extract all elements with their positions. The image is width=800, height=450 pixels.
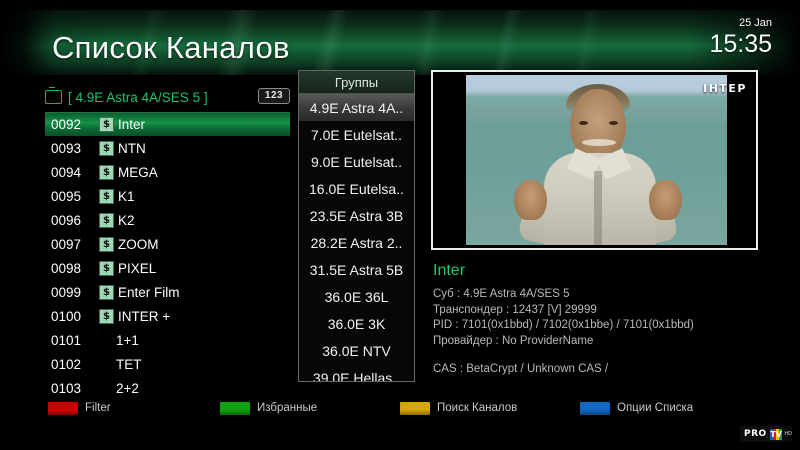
color-button-label: Избранные bbox=[257, 402, 317, 414]
group-item[interactable]: 9.0E Eutelsat.. bbox=[299, 148, 414, 175]
color-button-swatch bbox=[48, 402, 78, 415]
channel-name: 2+2 bbox=[116, 381, 139, 396]
channel-number: 0103 bbox=[51, 381, 95, 396]
watermark-tv-text: TV bbox=[770, 429, 783, 440]
clock-date: 25 Jan bbox=[709, 17, 772, 30]
color-button-swatch bbox=[220, 402, 250, 415]
scrambled-icon: $ bbox=[99, 285, 114, 300]
group-item[interactable]: 7.0E Eutelsat.. bbox=[299, 121, 414, 148]
channel-name: TET bbox=[116, 357, 142, 372]
channel-number: 0102 bbox=[51, 357, 95, 372]
video-preview[interactable]: ІНТЕР bbox=[431, 70, 758, 250]
group-item[interactable]: 36.0E NTV bbox=[299, 337, 414, 364]
channel-list-screen: Список Каналов 25 Jan 15:35 [ 4.9E Astra… bbox=[0, 0, 800, 450]
info-transponder: Транспондер : 12437 [V] 29999 bbox=[433, 303, 763, 319]
person-shirt-placket bbox=[594, 171, 602, 245]
color-button-bar: FilterИзбранныеПоиск КаналовОпции Списка bbox=[0, 399, 800, 421]
watermark-pro-text: PRO bbox=[744, 429, 767, 439]
channel-row[interactable]: 01011+1 bbox=[45, 328, 290, 352]
channel-info-panel: Inter Суб : 4.9E Astra 4A/SES 5 Транспон… bbox=[433, 262, 763, 378]
groups-title: Группы bbox=[335, 75, 378, 90]
group-item[interactable]: 16.0E Eutelsa.. bbox=[299, 175, 414, 202]
color-button-swatch bbox=[400, 402, 430, 415]
clock: 25 Jan 15:35 bbox=[709, 17, 772, 58]
person-moustache bbox=[582, 139, 616, 146]
channel-name: K2 bbox=[118, 213, 135, 228]
group-item[interactable]: 4.9E Astra 4A.. bbox=[299, 94, 414, 121]
channel-row[interactable]: 0095$K1 bbox=[45, 184, 290, 208]
satellite-name: [ 4.9E Astra 4A/SES 5 ] bbox=[68, 90, 208, 105]
scrambled-icon bbox=[99, 382, 112, 395]
channel-number: 0093 bbox=[51, 141, 95, 156]
channel-list-panel: [ 4.9E Astra 4A/SES 5 ] 123 0092$Inter00… bbox=[45, 86, 290, 386]
page-title: Список Каналов bbox=[52, 30, 290, 66]
channel-number: 0096 bbox=[51, 213, 95, 228]
channel-row[interactable]: 0092$Inter bbox=[45, 112, 290, 136]
channel-row[interactable]: 0096$K2 bbox=[45, 208, 290, 232]
scrambled-icon: $ bbox=[99, 213, 114, 228]
info-satellite: Суб : 4.9E Astra 4A/SES 5 bbox=[433, 287, 763, 303]
person-hand-right bbox=[649, 180, 682, 220]
channel-list[interactable]: 0092$Inter0093$NTN0094$MEGA0095$K10096$K… bbox=[45, 112, 290, 400]
person-eye-right bbox=[609, 121, 618, 125]
channel-row[interactable]: 0100$INTER + bbox=[45, 304, 290, 328]
scrambled-icon: $ bbox=[99, 189, 114, 204]
channel-row[interactable]: 0099$Enter Film bbox=[45, 280, 290, 304]
channel-name: Enter Film bbox=[118, 285, 180, 300]
person-hand-left bbox=[514, 180, 547, 220]
channel-name: K1 bbox=[118, 189, 135, 204]
color-button-label: Поиск Каналов bbox=[437, 402, 517, 414]
channel-row[interactable]: 0098$PIXEL bbox=[45, 256, 290, 280]
groups-panel: Группы 4.9E Astra 4A..7.0E Eutelsat..9.0… bbox=[298, 70, 415, 382]
channel-number: 0098 bbox=[51, 261, 95, 276]
group-item[interactable]: 28.2E Astra 2.. bbox=[299, 229, 414, 256]
channel-number: 0095 bbox=[51, 189, 95, 204]
group-item[interactable]: 39.0E Hellas.. bbox=[299, 364, 414, 382]
group-item[interactable]: 23.5E Astra 3B bbox=[299, 202, 414, 229]
channel-number: 0094 bbox=[51, 165, 95, 180]
group-item[interactable]: 31.5E Astra 5B bbox=[299, 256, 414, 283]
channel-name: ZOOM bbox=[118, 237, 159, 252]
info-channel-name: Inter bbox=[433, 262, 763, 280]
info-provider: Провайдер : No ProviderName bbox=[433, 334, 763, 350]
channel-name: Inter bbox=[118, 117, 145, 132]
channel-number: 0092 bbox=[51, 117, 95, 132]
channel-row[interactable]: 0102TET bbox=[45, 352, 290, 376]
person-eye-left bbox=[579, 121, 588, 125]
color-button[interactable]: Избранные bbox=[220, 399, 317, 417]
scrambled-icon: $ bbox=[99, 309, 114, 324]
clock-time: 15:35 bbox=[709, 30, 772, 58]
video-letterbox: ІНТЕР bbox=[433, 72, 756, 248]
channel-name: MEGA bbox=[118, 165, 158, 180]
group-item[interactable]: 36.0E 3K bbox=[299, 310, 414, 337]
group-item[interactable]: 36.0E 36L bbox=[299, 283, 414, 310]
protv-watermark-logo: PRO TV HD bbox=[740, 426, 792, 442]
info-pid: PID : 7101(0x1bbd) / 7102(0x1bbe) / 7101… bbox=[433, 318, 763, 334]
groups-title-bar: Группы bbox=[299, 71, 414, 94]
channel-logo-watermark: ІНТЕР bbox=[703, 82, 747, 95]
color-button[interactable]: Опции Списка bbox=[580, 399, 693, 417]
channel-name: 1+1 bbox=[116, 333, 139, 348]
watermark-suffix-text: HD bbox=[784, 431, 792, 437]
channel-number: 0101 bbox=[51, 333, 95, 348]
channel-name: PIXEL bbox=[118, 261, 156, 276]
info-cas: CAS : BetaCrypt / Unknown CAS / bbox=[433, 362, 763, 378]
color-button[interactable]: Поиск Каналов bbox=[400, 399, 517, 417]
tv-icon bbox=[45, 90, 62, 104]
channel-number: 0099 bbox=[51, 285, 95, 300]
scrambled-icon bbox=[99, 358, 112, 371]
channel-row[interactable]: 01032+2 bbox=[45, 376, 290, 400]
channel-list-header: [ 4.9E Astra 4A/SES 5 ] 123 bbox=[45, 86, 290, 108]
color-button-swatch bbox=[580, 402, 610, 415]
channel-name: INTER + bbox=[118, 309, 170, 324]
channel-row[interactable]: 0097$ZOOM bbox=[45, 232, 290, 256]
color-button-label: Опции Списка bbox=[617, 402, 693, 414]
header-bar: Список Каналов 25 Jan 15:35 bbox=[0, 10, 800, 75]
color-button[interactable]: Filter bbox=[48, 399, 111, 417]
channel-number: 0097 bbox=[51, 237, 95, 252]
channel-row[interactable]: 0094$MEGA bbox=[45, 160, 290, 184]
scrambled-icon: $ bbox=[99, 117, 114, 132]
scrambled-icon: $ bbox=[99, 237, 114, 252]
channel-name: NTN bbox=[118, 141, 146, 156]
groups-list[interactable]: 4.9E Astra 4A..7.0E Eutelsat..9.0E Eutel… bbox=[299, 94, 414, 382]
color-button-label: Filter bbox=[85, 402, 111, 414]
video-image bbox=[466, 75, 727, 245]
scrambled-icon: $ bbox=[99, 165, 114, 180]
channel-row[interactable]: 0093$NTN bbox=[45, 136, 290, 160]
scrambled-icon bbox=[99, 334, 112, 347]
scrambled-icon: $ bbox=[99, 261, 114, 276]
scrambled-icon: $ bbox=[99, 141, 114, 156]
channel-number: 0100 bbox=[51, 309, 95, 324]
channel-count-badge: 123 bbox=[258, 88, 290, 104]
